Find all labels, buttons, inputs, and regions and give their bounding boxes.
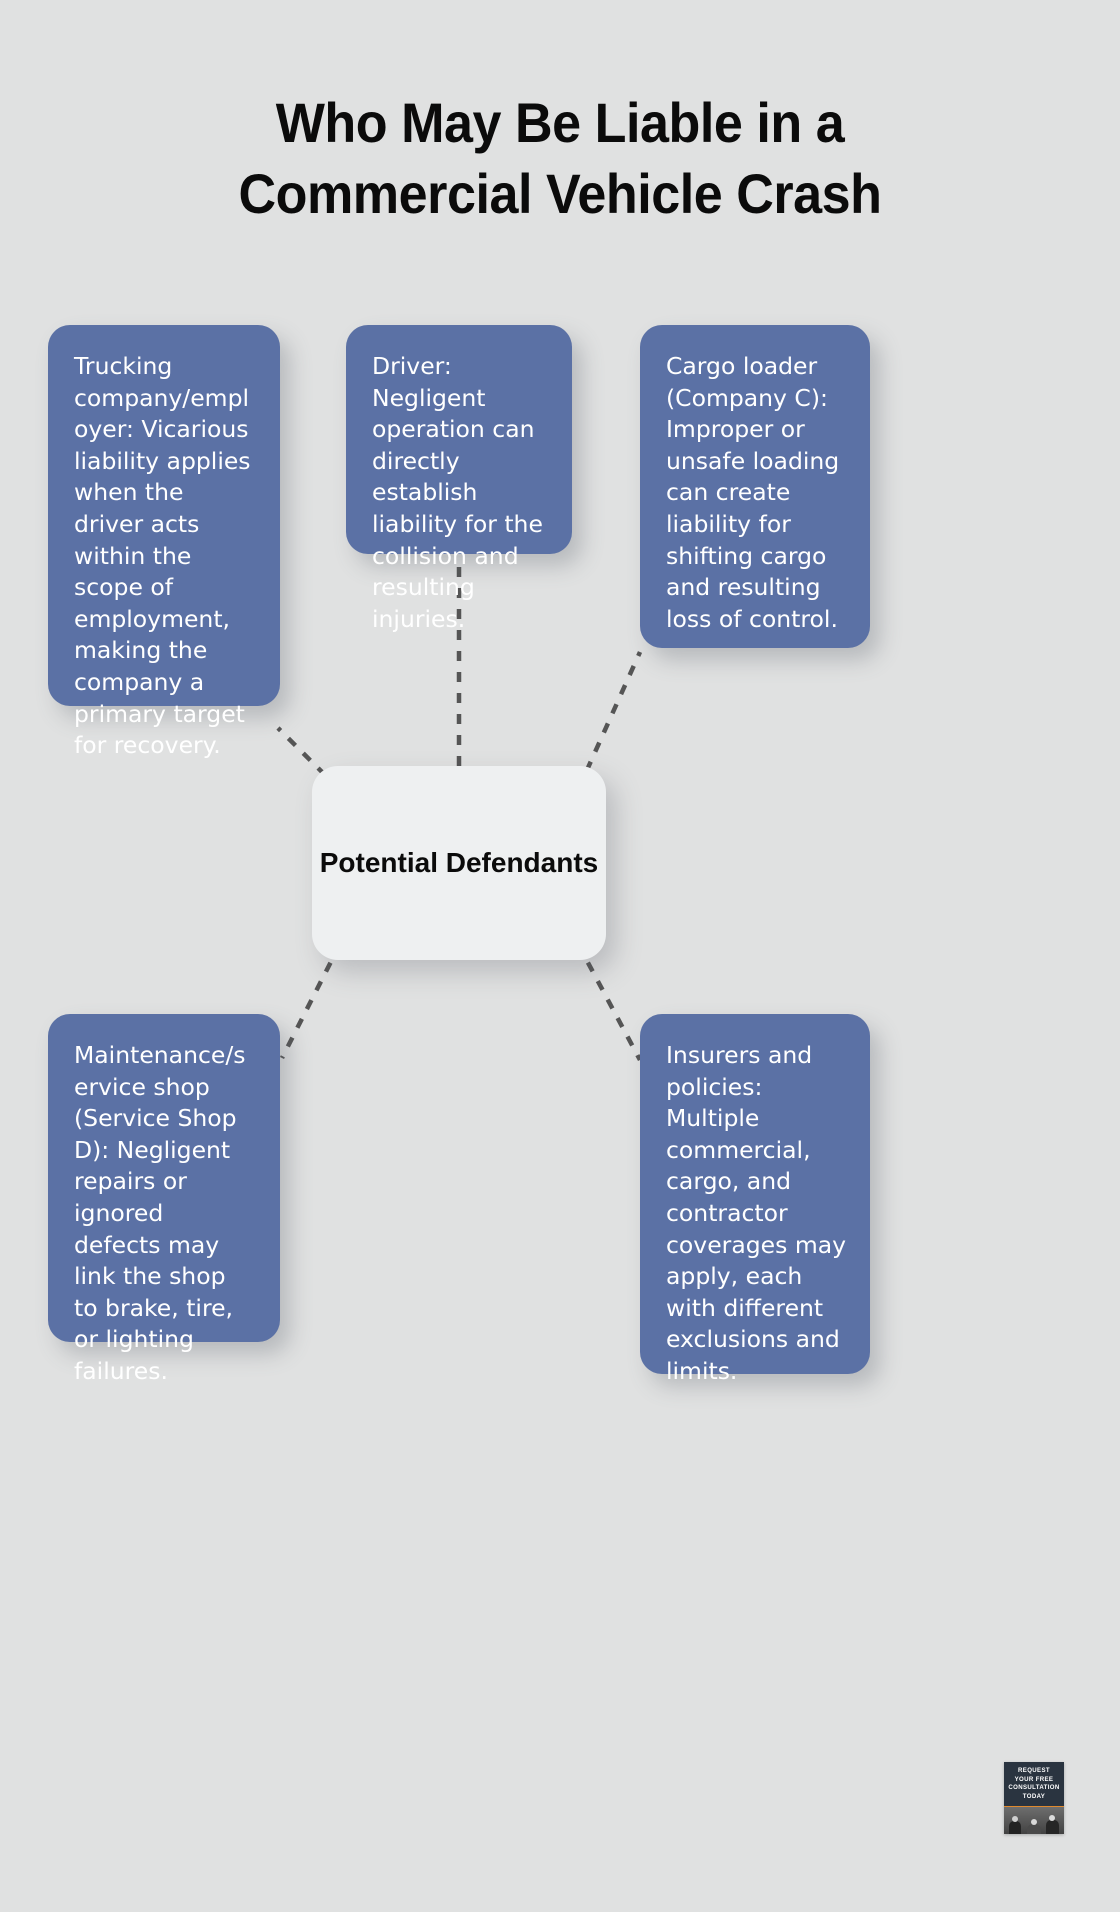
person-3-body — [1046, 1820, 1059, 1834]
page-title: Who May Be Liable in a Commercial Vehicl… — [123, 88, 997, 229]
badge-text-block: Request Your Free Consultation Today — [1004, 1762, 1064, 1806]
node-trucking-company[interactable]: Trucking company/employer: Vicarious lia… — [48, 325, 280, 706]
node-maintenance-shop[interactable]: Maintenance/service shop (Service Shop D… — [48, 1014, 280, 1342]
center-node-label: Potential Defendants — [320, 843, 598, 882]
badge-line-2: Your Free — [1006, 1776, 1062, 1785]
node-cargo-loader[interactable]: Cargo loader (Company C): Improper or un… — [640, 325, 870, 648]
badge-line-3: Consultation — [1006, 1784, 1062, 1793]
badge-line-1: Request — [1006, 1767, 1062, 1776]
person-2-body — [1027, 1824, 1041, 1834]
node-driver[interactable]: Driver: Negligent operation can directly… — [346, 325, 572, 554]
badge-team-photo — [1004, 1807, 1064, 1834]
consultation-badge[interactable]: Request Your Free Consultation Today — [1004, 1762, 1064, 1834]
node-insurers-policies[interactable]: Insurers and policies: Multiple commerci… — [640, 1014, 870, 1374]
badge-line-4: Today — [1006, 1793, 1062, 1802]
connector-center-to-insurers — [578, 944, 640, 1060]
infographic-canvas: Who May Be Liable in a Commercial Vehicl… — [0, 0, 1120, 1912]
person-1-body — [1009, 1821, 1021, 1834]
node-center-potential-defendants[interactable]: Potential Defendants — [312, 766, 606, 960]
connector-center-to-maintenance — [282, 944, 340, 1058]
